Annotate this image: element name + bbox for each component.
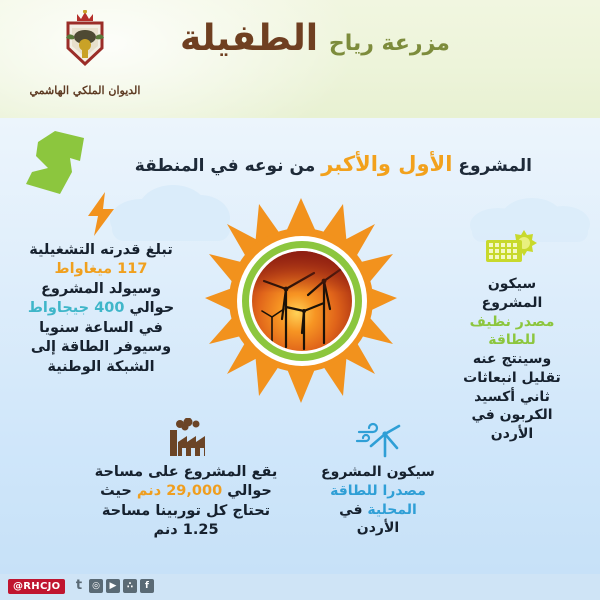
area-value: 29,000 دنم: [137, 483, 222, 499]
capacity-line-3: وسيولد المشروع: [8, 280, 194, 299]
capacity-line-6: وسيوفر الطاقة إلى: [8, 338, 194, 357]
capacity-gigawatt-line: حوالي 400 جيجاواط: [8, 299, 194, 318]
social-links: t ◎ ▶ ∴ f: [72, 579, 154, 593]
twitter-icon[interactable]: t: [72, 579, 86, 593]
fact-clean-energy: سيكون المشروع مصدر نظيف للطاقة وسينتج عن…: [432, 228, 592, 444]
clean-line-6: تقليل انبعاثات: [432, 369, 592, 388]
solar-panel-icon: [484, 228, 540, 270]
capacity-line-5: في الساعة سنويا: [8, 319, 194, 338]
header-band: مزرعة رياح الطفيلة الديوان الملكي الهاشم…: [0, 0, 600, 118]
fact-area: يقع المشروع على مساحة حوالي 29,000 دنم ح…: [86, 418, 286, 541]
fact-local-energy: سيكون المشروع مصدرا للطاقة المحلية في ال…: [302, 420, 454, 538]
local-blue-word: المحلية: [367, 502, 416, 518]
area-lead: حوالي: [227, 483, 272, 499]
capacity-line-1: تبلغ قدرته التشغيلية: [8, 241, 194, 260]
subtitle-banner: المشروع الأول والأكبر من نوعه في المنطقة: [135, 152, 532, 176]
instagram-icon[interactable]: ◎: [89, 579, 103, 593]
title-main: الطفيلة: [180, 18, 318, 59]
capacity-megawatt: 117 ميغاواط: [8, 260, 194, 279]
emblem-caption: الديوان الملكي الهاشمي: [26, 84, 144, 97]
area-line-3: تحتاج كل توربينا مساحة: [86, 502, 286, 521]
facebook-icon[interactable]: f: [140, 579, 154, 593]
crown-shield-icon: [50, 10, 120, 76]
factory-icon: [162, 418, 210, 458]
title-prefix: مزرعة رياح: [329, 31, 450, 56]
capacity-line-7: الشبكة الوطنية: [8, 358, 194, 377]
capacity-lead: حوالي: [130, 300, 175, 316]
fact-capacity: تبلغ قدرته التشغيلية 117 ميغاواط وسيولد …: [8, 192, 194, 377]
royal-emblem: الديوان الملكي الهاشمي: [26, 10, 144, 110]
clean-line-1: سيكون: [432, 275, 592, 294]
local-source: مصدرا للطاقة: [302, 482, 454, 501]
flickr-icon[interactable]: ∴: [123, 579, 137, 593]
clean-line-9: الأردن: [432, 425, 592, 444]
local-line-4: الأردن: [302, 519, 454, 538]
local-tail: في: [339, 502, 362, 518]
wind-turbine-photo: [252, 251, 352, 351]
clean-source-2: للطاقة: [432, 331, 592, 350]
area-line-1: يقع المشروع على مساحة: [86, 463, 286, 482]
footer-bar: @RHCJO t ◎ ▶ ∴ f: [0, 574, 600, 600]
sun-medallion: [205, 198, 397, 403]
subtitle-after: من نوعه في المنطقة: [135, 156, 316, 176]
page-title: مزرعة رياح الطفيلة: [180, 18, 540, 59]
clean-line-8: الكربون في: [432, 406, 592, 425]
area-line-2: حوالي 29,000 دنم حيث: [86, 482, 286, 501]
lightning-bolt-icon: [84, 192, 118, 236]
clean-line-5: وسينتج عنه: [432, 350, 592, 369]
infographic-poster: مزرعة رياح الطفيلة الديوان الملكي الهاشم…: [0, 0, 600, 600]
photo-ring: [239, 238, 365, 364]
clean-line-2: المشروع: [432, 294, 592, 313]
local-line-3: المحلية في: [302, 501, 454, 520]
local-line-1: سيكون المشروع: [302, 463, 454, 482]
social-handle-badge[interactable]: @RHCJO: [8, 579, 65, 594]
clean-source-1: مصدر نظيف: [432, 313, 592, 332]
youtube-icon[interactable]: ▶: [106, 579, 120, 593]
clean-line-7: ثاني أكسيد: [432, 388, 592, 407]
subtitle-highlight: الأول والأكبر: [321, 152, 452, 176]
area-line-4: 1.25 دنم: [86, 521, 286, 540]
area-tail: حيث: [100, 483, 132, 499]
subtitle-before: المشروع: [458, 156, 532, 176]
wind-turbine-icon: [355, 420, 401, 458]
capacity-gigawatt: 400 جيجاواط: [28, 300, 125, 316]
